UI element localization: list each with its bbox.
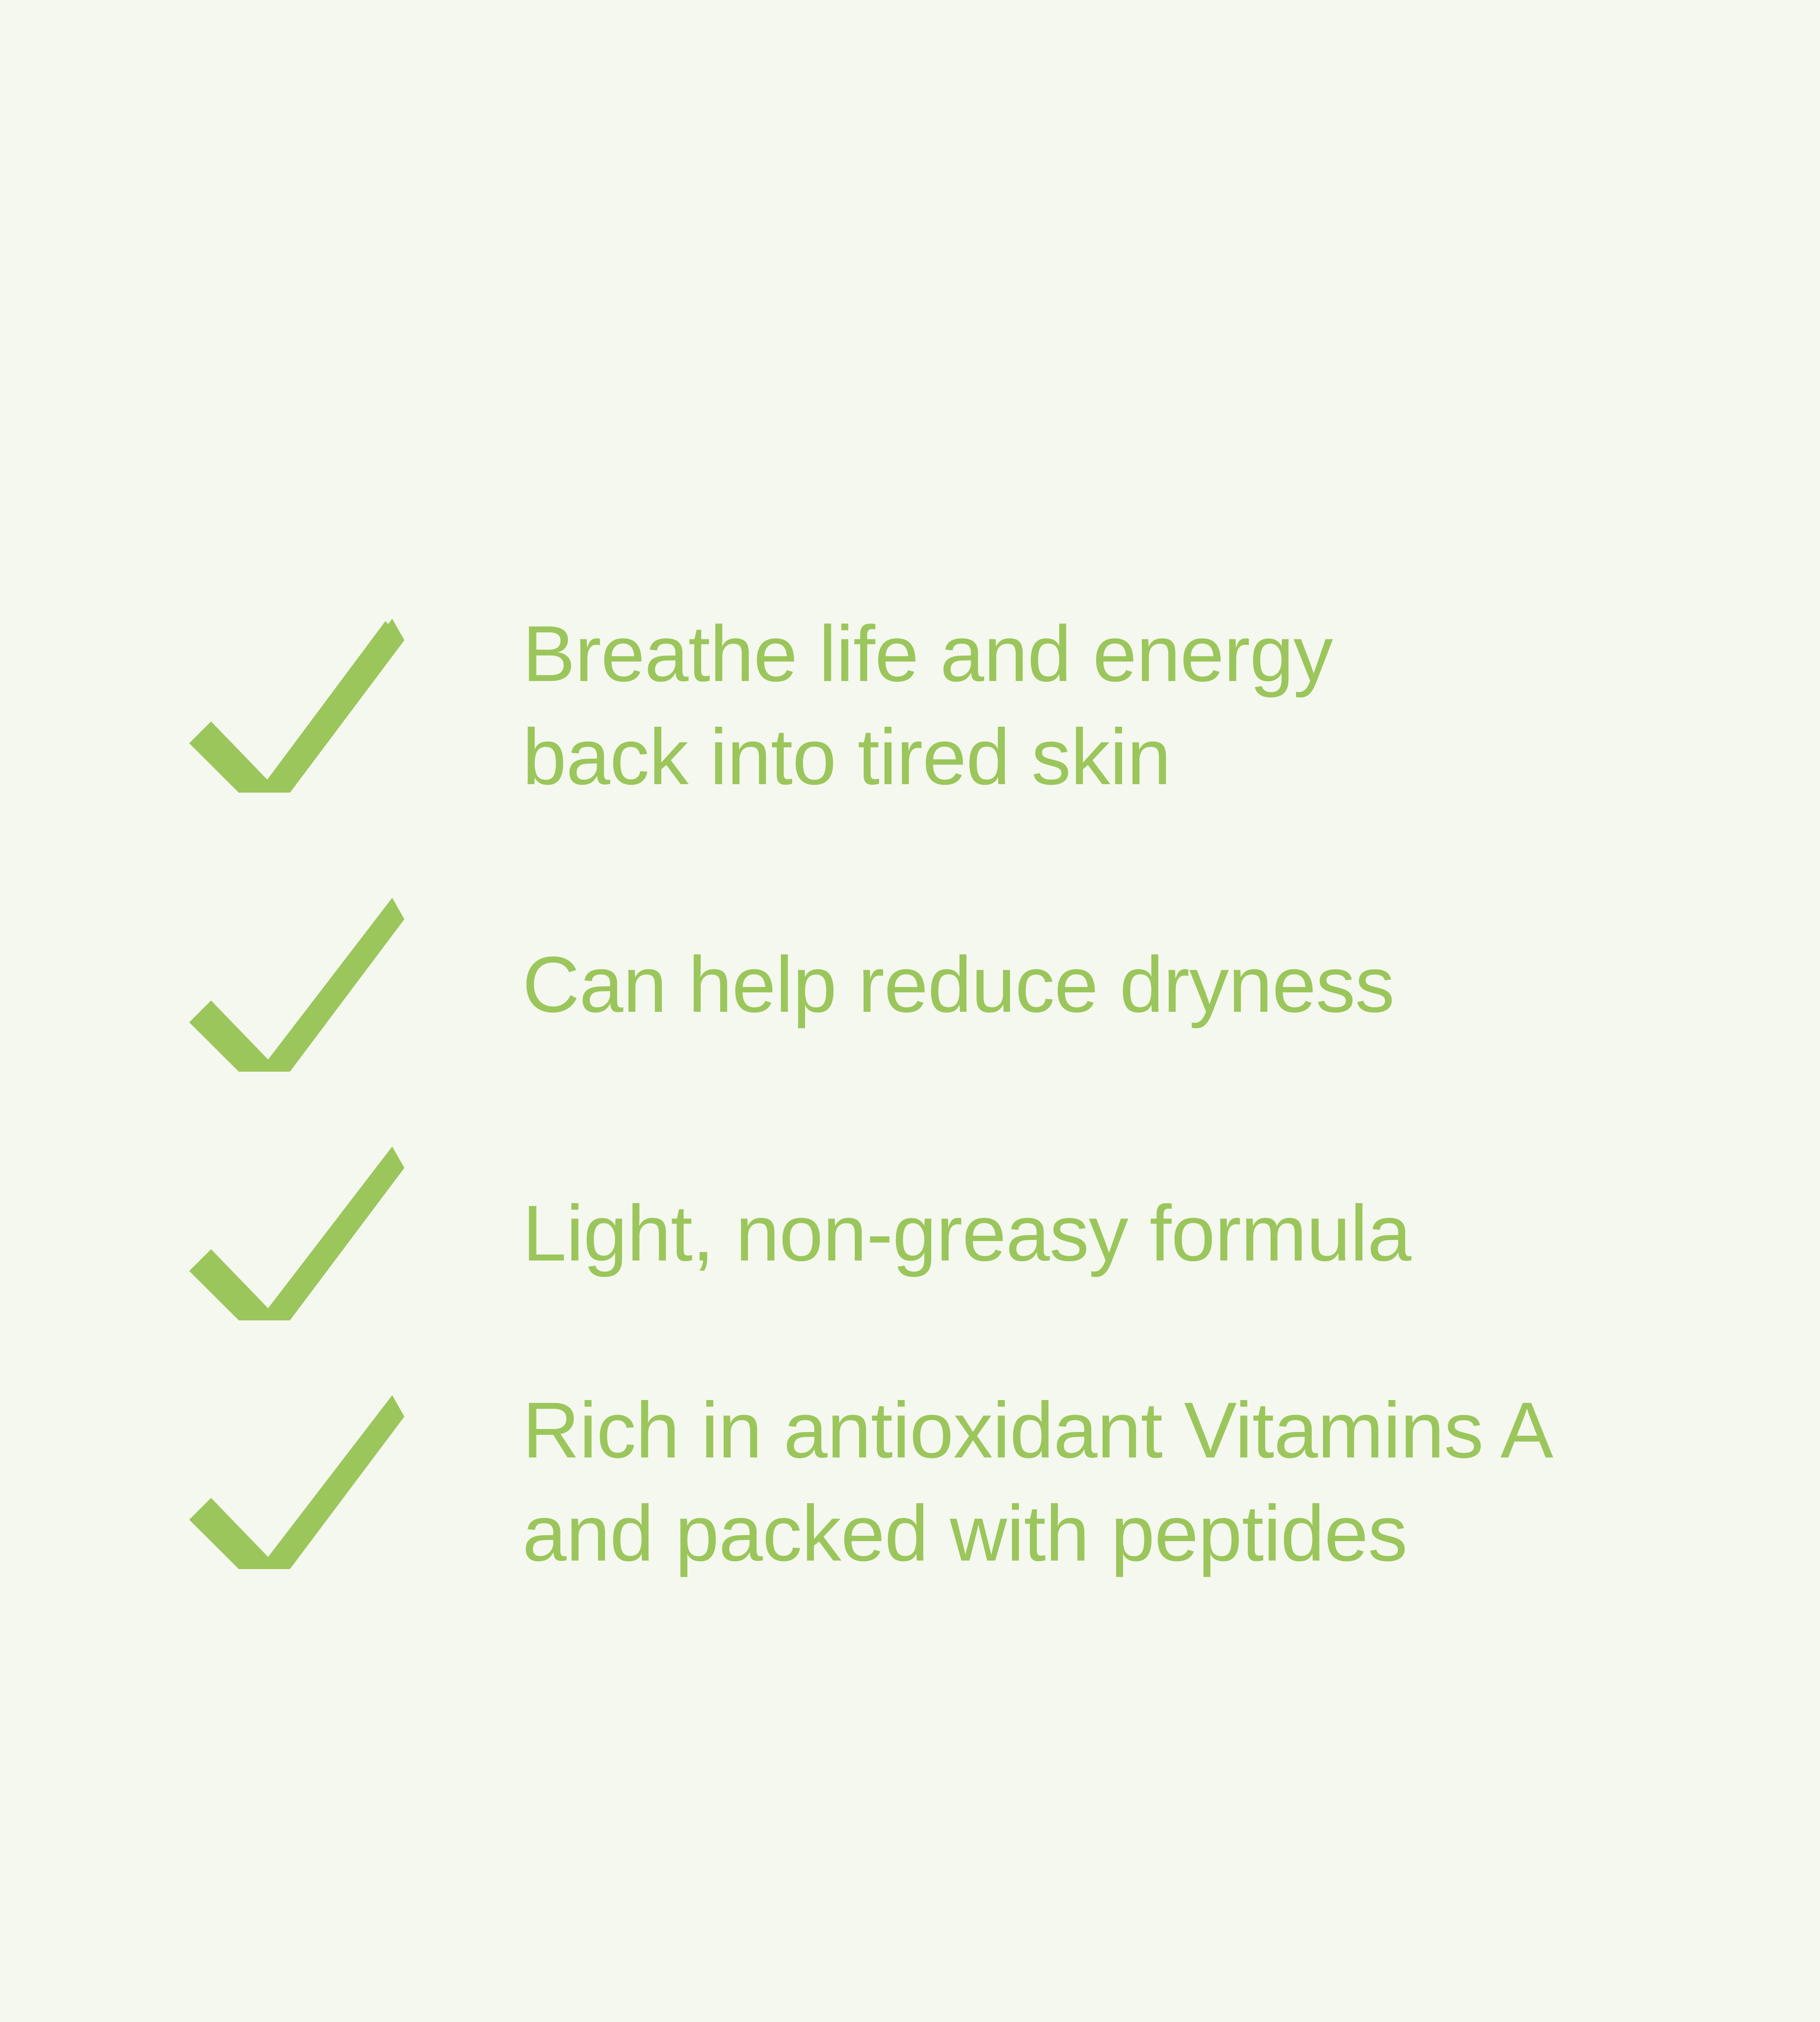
benefit-text: Light, non-greasy formula xyxy=(522,1182,1674,1285)
benefit-text-cell: Breathe life and energy back into tired … xyxy=(408,603,1674,809)
benefit-item: Light, non-greasy formula xyxy=(170,1124,1674,1343)
benefits-list: Breathe life and energy back into tired … xyxy=(170,566,1674,1622)
benefit-text-cell: Light, non-greasy formula xyxy=(408,1182,1674,1285)
benefit-item: Rich in antioxidant Vitamins A and packe… xyxy=(170,1343,1674,1622)
checkmark-icon xyxy=(180,1146,406,1320)
benefit-text: Rich in antioxidant Vitamins A and packe… xyxy=(522,1379,1674,1585)
checkmark-icon xyxy=(180,619,406,793)
benefit-text: Breathe life and energy back into tired … xyxy=(522,603,1674,809)
benefit-check-cell xyxy=(170,1395,408,1569)
benefit-text-cell: Can help reduce dryness xyxy=(408,933,1674,1036)
benefits-graphic: Breathe life and energy back into tired … xyxy=(0,0,1820,2022)
benefit-item: Breathe life and energy back into tired … xyxy=(170,566,1674,845)
benefit-check-cell xyxy=(170,619,408,793)
benefit-check-cell xyxy=(170,898,408,1072)
checkmark-icon xyxy=(180,1395,406,1569)
benefit-item: Can help reduce dryness xyxy=(170,845,1674,1124)
checkmark-icon xyxy=(180,898,406,1072)
benefit-text-cell: Rich in antioxidant Vitamins A and packe… xyxy=(408,1379,1674,1585)
benefit-check-cell xyxy=(170,1146,408,1320)
benefit-text: Can help reduce dryness xyxy=(522,933,1674,1036)
